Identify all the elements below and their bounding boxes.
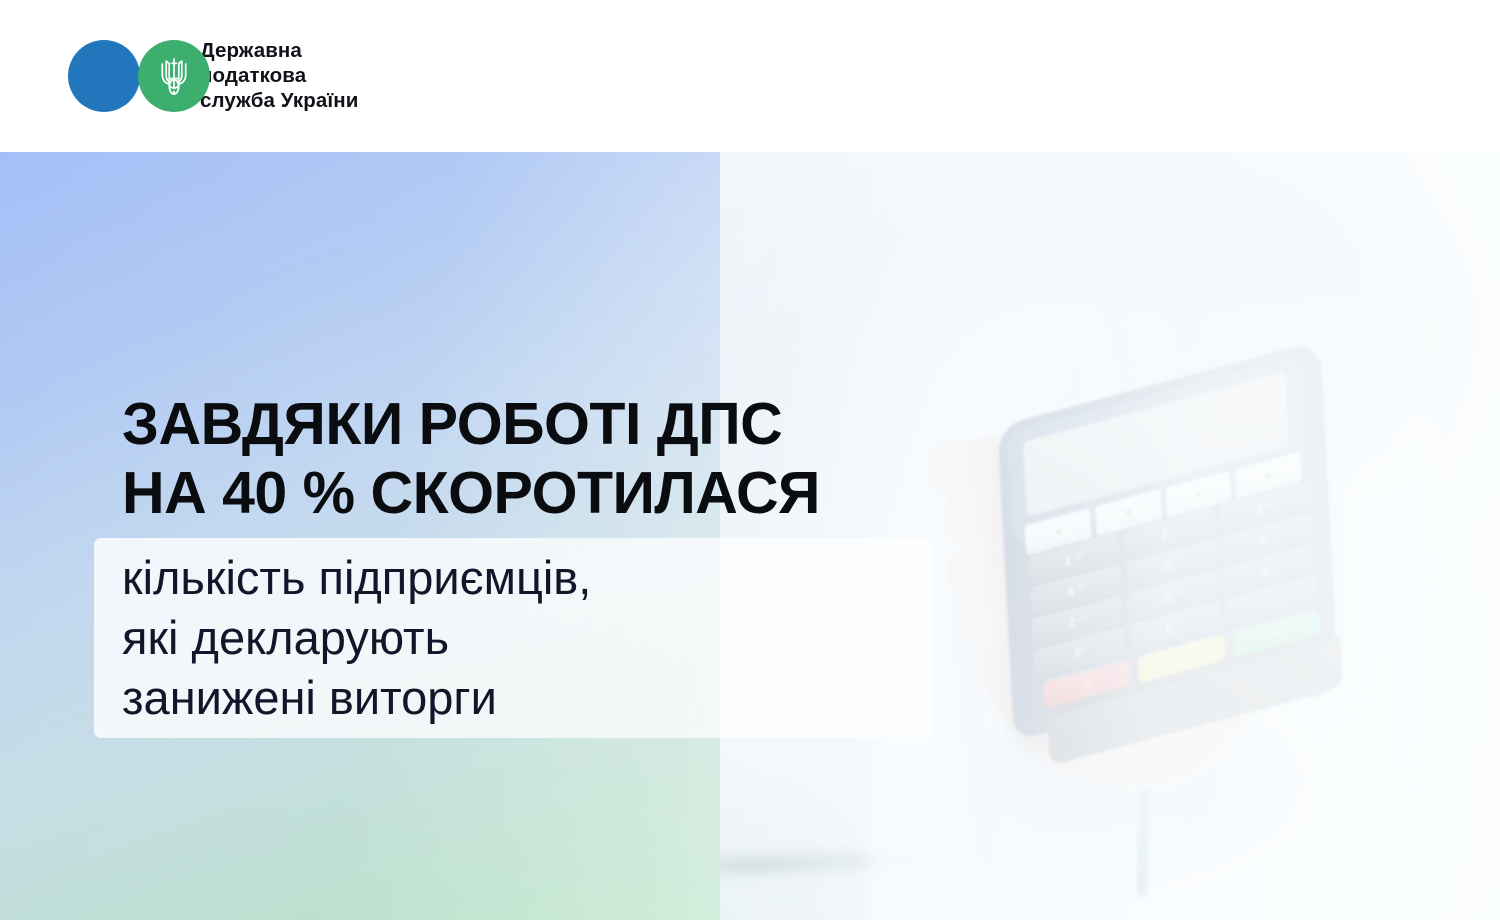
poster-canvas: ◄ ▼ ▲ ► 1@Z 2Бв 3Дж 4Чн 5Їк 6Ун 7Бл 8Зц … xyxy=(0,0,1500,920)
logo-blue-circle-icon xyxy=(68,40,140,112)
background-stage: ◄ ▼ ▲ ► 1@Z 2Бв 3Дж 4Чн 5Їк 6Ун 7Бл 8Зц … xyxy=(0,152,1500,920)
logo-green-circle-icon xyxy=(138,40,210,112)
tryzub-icon xyxy=(157,55,191,97)
logo-marks xyxy=(68,40,186,112)
logo-block[interactable]: Державна податкова служба України xyxy=(68,38,358,113)
header-band: Державна податкова служба України xyxy=(0,0,1500,152)
headline: ЗАВДЯКИ РОБОТІ ДПС НА 40 % СКОРОТИЛАСЯ xyxy=(122,390,942,528)
organization-name: Державна податкова служба України xyxy=(200,38,358,113)
background-wash xyxy=(0,152,1500,920)
subtitle: кількість підприємців, які декларують за… xyxy=(122,548,922,728)
